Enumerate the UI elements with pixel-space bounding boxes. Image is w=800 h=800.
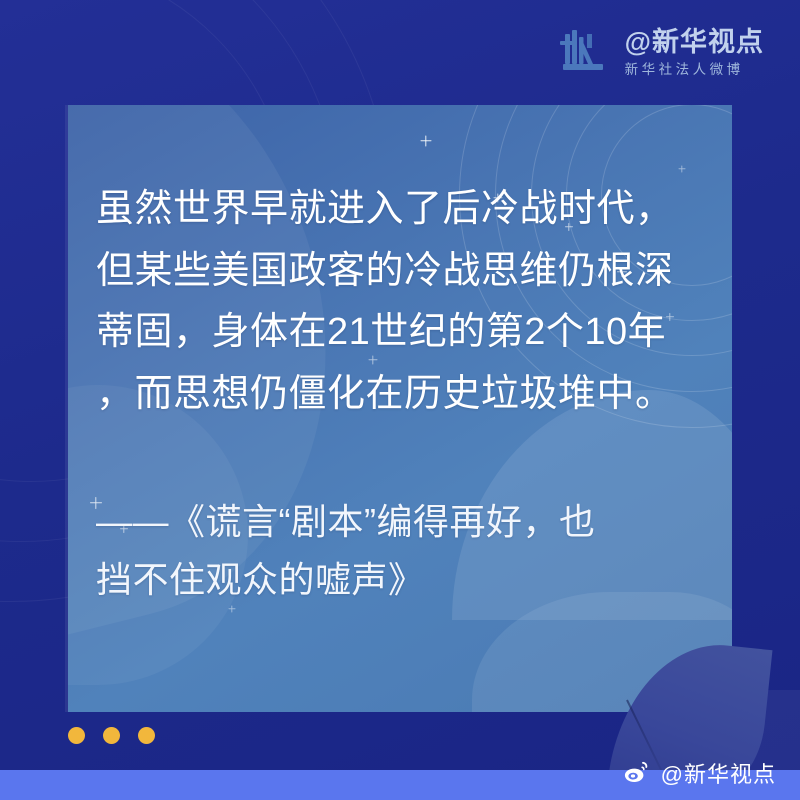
attribution-line: ——《谎言“剧本”编得再好，也 xyxy=(96,493,710,551)
decorative-dot xyxy=(68,727,85,744)
quote-line: ，而思想仍僵化在历史垃圾堆中。 xyxy=(96,364,710,426)
brand-logo: @新华视点 新华社法人微博 xyxy=(557,28,764,78)
quote-line: 虽然世界早就进入了后冷战时代， xyxy=(96,179,710,241)
sparkle-icon xyxy=(678,165,685,172)
brand-logo-text: @新华视点 新华社法人微博 xyxy=(625,29,764,77)
decorative-dot xyxy=(103,727,120,744)
brand-account-title: @新华视点 xyxy=(625,29,764,56)
brand-account-subtitle: 新华社法人微博 xyxy=(625,63,764,77)
weibo-attribution: @新华视点 xyxy=(622,757,776,789)
attribution-line: 挡不住观众的嘘声》 xyxy=(96,551,710,609)
quote-line: 蒂固，身体在21世纪的第2个10年 xyxy=(96,302,710,364)
quote-card: 虽然世界早就进入了后冷战时代， 但某些美国政客的冷战思维仍根深 蒂固，身体在21… xyxy=(68,105,732,712)
quote-text: 虽然世界早就进入了后冷战时代， 但某些美国政客的冷战思维仍根深 蒂固，身体在21… xyxy=(96,179,710,425)
poster-canvas: @新华视点 新华社法人微博 虽然世界早就进入了后冷战时代， 但某些美国政客的冷战… xyxy=(0,0,800,800)
decorative-dots xyxy=(68,727,155,744)
quote-attribution: ——《谎言“剧本”编得再好，也 挡不住观众的嘘声》 xyxy=(96,493,710,610)
decorative-dot xyxy=(138,727,155,744)
xinhua-logo-mark-icon xyxy=(557,28,613,78)
quote-line: 但某些美国政客的冷战思维仍根深 xyxy=(96,241,710,303)
weibo-icon xyxy=(622,760,652,786)
sparkle-icon xyxy=(420,135,431,146)
weibo-handle-text: @新华视点 xyxy=(661,757,776,789)
